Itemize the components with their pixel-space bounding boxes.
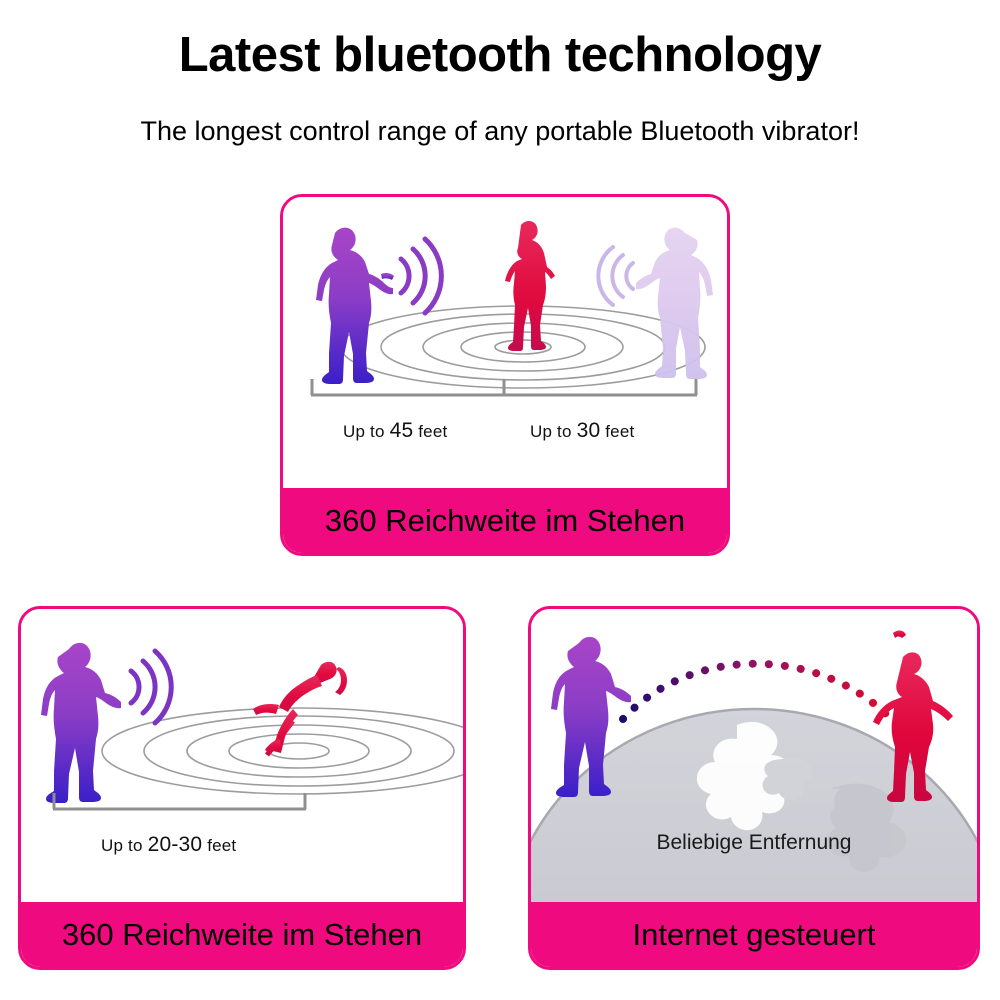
card-footer-range-standing: 360 Reichweite im Stehen [283,488,727,553]
card-range-standing: Up to 45 feet Up to 30 feet 360 Reichwei… [280,194,730,556]
distance-label: Beliebige Entfernung [531,831,977,855]
card-footer-label: Internet gesteuert [633,917,876,953]
page-subtitle: The longest control range of any portabl… [0,116,1000,147]
figure-man-left [41,643,121,803]
card-footer-internet: Internet gesteuert [531,902,977,967]
card-internet: Beliebige Entfernung Internet gesteuert [528,606,980,970]
card-footer-range-sitting: 360 Reichweite im Stehen [21,902,463,967]
card-footer-label: 360 Reichweite im Stehen [62,917,422,953]
range-standing-diagram [283,197,727,488]
range-label-sitting: Up to 20-30 feet [101,833,236,857]
illustration-internet: Beliebige Entfernung [531,609,977,902]
card-footer-label: 360 Reichweite im Stehen [325,503,685,539]
card-range-sitting: Up to 20-30 feet 360 Reichweite im Stehe… [18,606,466,970]
wifi-waves-left-icon [598,247,633,305]
figure-man-left [316,228,394,384]
range-sitting-diagram [21,609,463,902]
internet-globe-diagram [531,609,977,902]
range-label-right: Up to 30 feet [530,419,634,443]
illustration-range-sitting: Up to 20-30 feet [21,609,463,902]
range-label-left: Up to 45 feet [343,419,447,443]
illustration-range-standing: Up to 45 feet Up to 30 feet [283,197,727,488]
figure-man-right-faded [636,228,713,379]
page-title: Latest bluetooth technology [0,30,1000,81]
wifi-waves-right-icon [401,239,441,313]
wifi-waves-right-icon [131,651,171,723]
